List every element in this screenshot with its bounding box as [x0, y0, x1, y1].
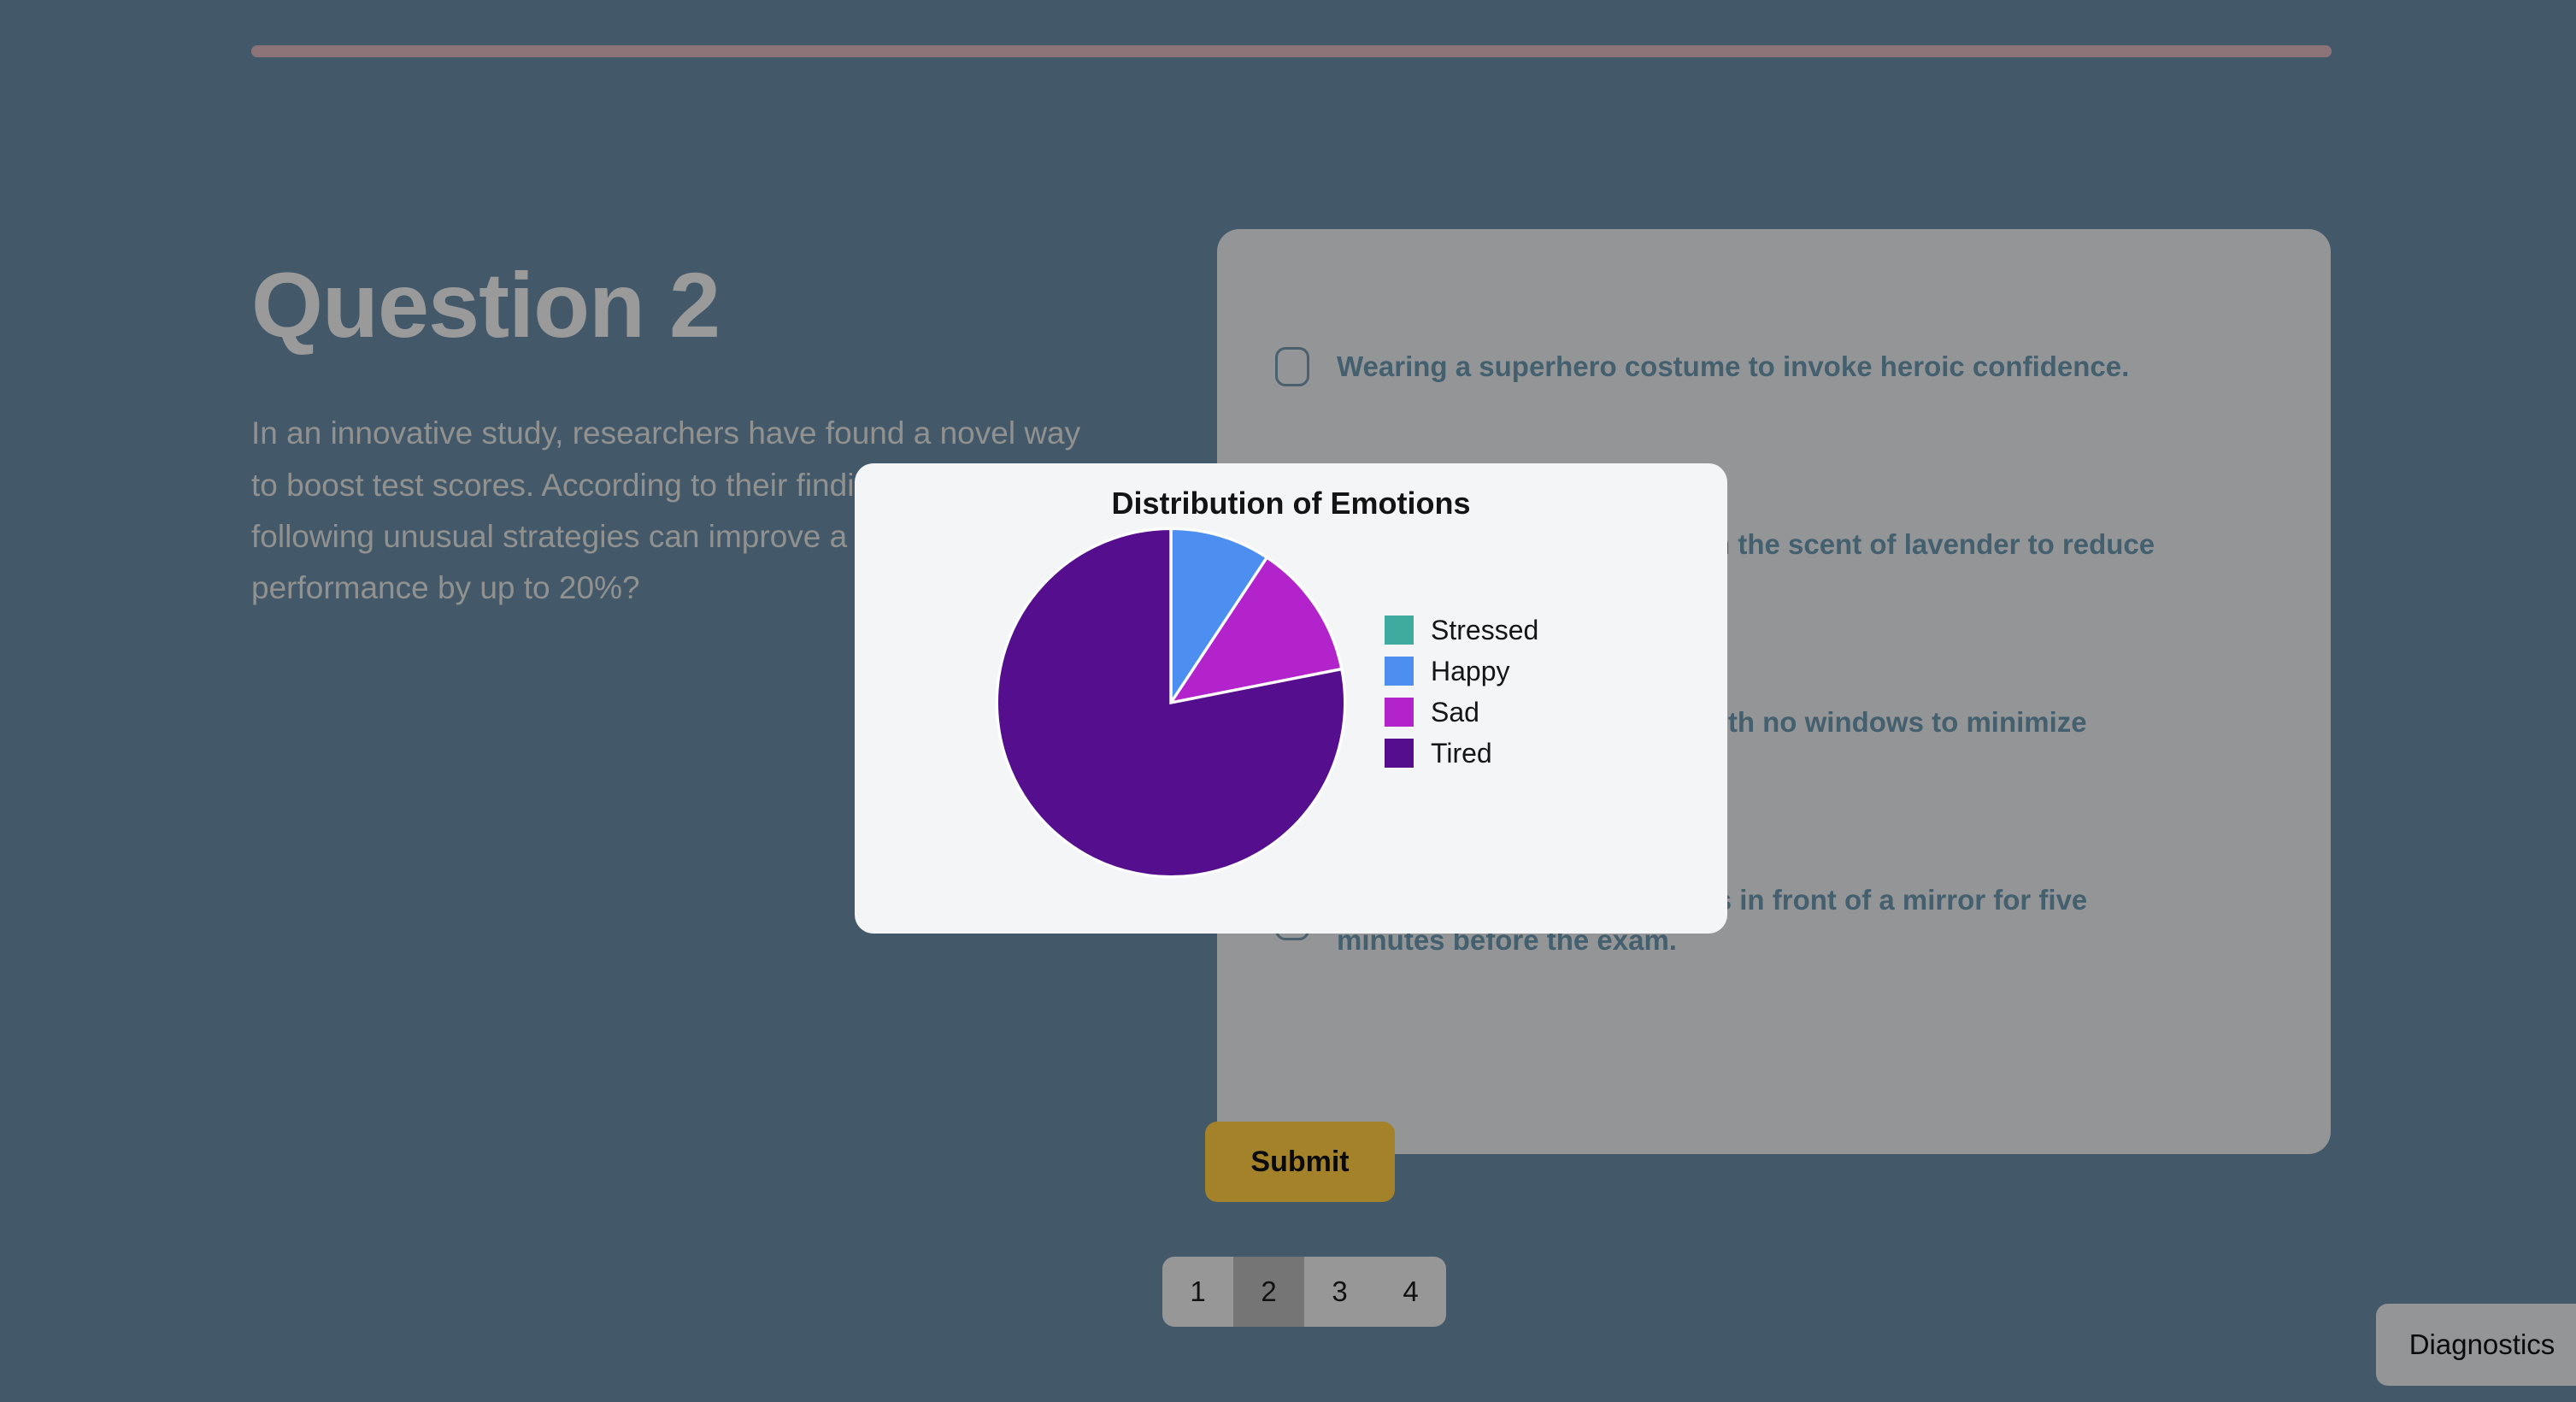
legend-swatch-stressed	[1385, 616, 1414, 645]
progress-bar-fill	[251, 45, 2332, 57]
pie-chart-svg	[991, 523, 1350, 882]
legend-row: Tired	[1385, 739, 1538, 768]
option-row[interactable]: Wearing a superhero costume to invoke he…	[1275, 347, 2284, 387]
submit-button[interactable]: Submit	[1205, 1122, 1395, 1202]
legend-label-tired: Tired	[1431, 739, 1492, 767]
legend-swatch-sad	[1385, 698, 1414, 727]
legend-row: Happy	[1385, 657, 1538, 686]
legend-label-happy: Happy	[1431, 657, 1510, 685]
pagination-page-2[interactable]: 2	[1233, 1257, 1304, 1327]
legend-label-sad: Sad	[1431, 698, 1479, 726]
pagination-page-1[interactable]: 1	[1162, 1257, 1233, 1327]
chart-legend: StressedHappySadTired	[1385, 616, 1538, 768]
chart-modal: Distribution of Emotions StressedHappySa…	[855, 463, 1727, 934]
pagination-page-4[interactable]: 4	[1375, 1257, 1446, 1327]
progress-bar-track	[251, 45, 2332, 57]
legend-swatch-happy	[1385, 657, 1414, 686]
pagination-page-3[interactable]: 3	[1304, 1257, 1375, 1327]
page-title: Question 2	[251, 256, 1157, 353]
option-checkbox-1[interactable]	[1275, 347, 1309, 386]
legend-row: Stressed	[1385, 616, 1538, 645]
chart-title: Distribution of Emotions	[855, 486, 1727, 521]
pie-chart	[991, 523, 1350, 882]
legend-label-stressed: Stressed	[1431, 616, 1538, 644]
pie-slices	[997, 528, 1344, 876]
legend-row: Sad	[1385, 698, 1538, 727]
diagnostics-button[interactable]: Diagnostics	[2376, 1304, 2576, 1386]
legend-swatch-tired	[1385, 739, 1414, 768]
option-label-1: Wearing a superhero costume to invoke he…	[1337, 347, 2129, 387]
pagination: 1 2 3 4	[1162, 1257, 1446, 1327]
